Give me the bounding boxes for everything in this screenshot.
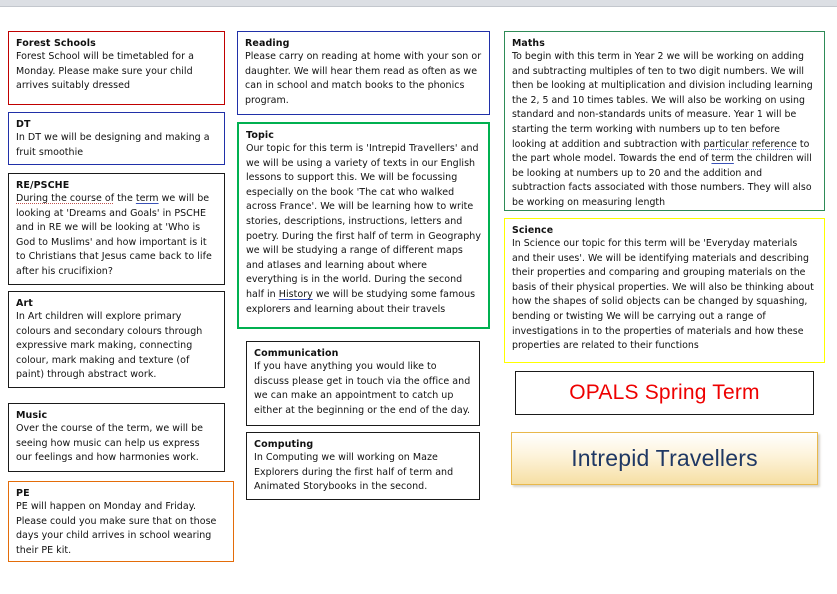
box-body-re-pshce: During the course of the term we will be… — [16, 192, 217, 280]
box-heading-dt: DT — [16, 118, 217, 131]
text-box-re-pshce[interactable]: RE/PSCHE During the course of the term w… — [8, 173, 225, 285]
text-box-communication[interactable]: Communication If you have anything you w… — [246, 341, 480, 426]
re-text-b: we will be looking at 'Dreams and Goals'… — [16, 193, 212, 277]
text-box-topic[interactable]: Topic Our topic for this term is 'Intrep… — [237, 122, 490, 329]
box-body-science: In Science our topic for this term will … — [512, 237, 817, 354]
text-box-forest-schools[interactable]: Forest Schools Forest School will be tim… — [8, 31, 225, 105]
title-topic-text: Intrepid Travellers — [571, 445, 758, 472]
document-page: Forest Schools Forest School will be tim… — [0, 0, 837, 594]
box-body-topic: Our topic for this term is 'Intrepid Tra… — [246, 142, 481, 317]
box-body-music: Over the course of the term, we will be … — [16, 422, 217, 466]
topic-text-a: Our topic for this term is 'Intrepid Tra… — [246, 143, 481, 300]
box-body-pe: PE will happen on Monday and Friday. Ple… — [16, 500, 226, 558]
box-heading-reading: Reading — [245, 37, 482, 50]
box-body-art: In Art children will explore primary col… — [16, 310, 217, 383]
box-heading-re-pshce: RE/PSCHE — [16, 179, 217, 192]
title-banner-topic[interactable]: Intrepid Travellers — [511, 432, 818, 485]
box-body-reading: Please carry on reading at home with you… — [245, 50, 482, 108]
re-text-a: the — [114, 193, 136, 204]
box-heading-forest-schools: Forest Schools — [16, 37, 217, 50]
box-heading-topic: Topic — [246, 129, 481, 142]
box-heading-communication: Communication — [254, 347, 472, 360]
grammarcheck-word-term-maths: term — [711, 153, 733, 164]
box-body-forest-schools: Forest School will be timetabled for a M… — [16, 50, 217, 94]
text-box-science[interactable]: Science In Science our topic for this te… — [504, 218, 825, 363]
grammarcheck-word-history: History — [279, 289, 313, 300]
maths-text-a: To begin with this term in Year 2 we wil… — [512, 51, 813, 150]
text-box-pe[interactable]: PE PE will happen on Monday and Friday. … — [8, 481, 234, 562]
title-term-text: OPALS Spring Term — [569, 381, 760, 405]
window-top-bar — [0, 0, 837, 7]
box-heading-pe: PE — [16, 487, 226, 500]
spellcheck-phrase-particular-reference: particular reference — [703, 139, 796, 150]
text-box-art[interactable]: Art In Art children will explore primary… — [8, 291, 225, 388]
spellcheck-misspelled-phrase: During the course of — [16, 193, 114, 204]
box-heading-maths: Maths — [512, 37, 817, 50]
title-banner-term[interactable]: OPALS Spring Term — [515, 371, 814, 415]
box-heading-art: Art — [16, 297, 217, 310]
text-box-reading[interactable]: Reading Please carry on reading at home … — [237, 31, 490, 115]
box-heading-music: Music — [16, 409, 217, 422]
box-body-dt: In DT we will be designing and making a … — [16, 131, 217, 160]
box-body-maths: To begin with this term in Year 2 we wil… — [512, 50, 817, 211]
grammarcheck-word-term: term — [136, 193, 159, 204]
box-body-computing: In Computing we will working on Maze Exp… — [254, 451, 472, 495]
box-body-communication: If you have anything you would like to d… — [254, 360, 472, 418]
text-box-computing[interactable]: Computing In Computing we will working o… — [246, 432, 480, 500]
text-box-music[interactable]: Music Over the course of the term, we wi… — [8, 403, 225, 472]
text-box-maths[interactable]: Maths To begin with this term in Year 2 … — [504, 31, 825, 211]
box-heading-science: Science — [512, 224, 817, 237]
box-heading-computing: Computing — [254, 438, 472, 451]
text-box-dt[interactable]: DT In DT we will be designing and making… — [8, 112, 225, 165]
